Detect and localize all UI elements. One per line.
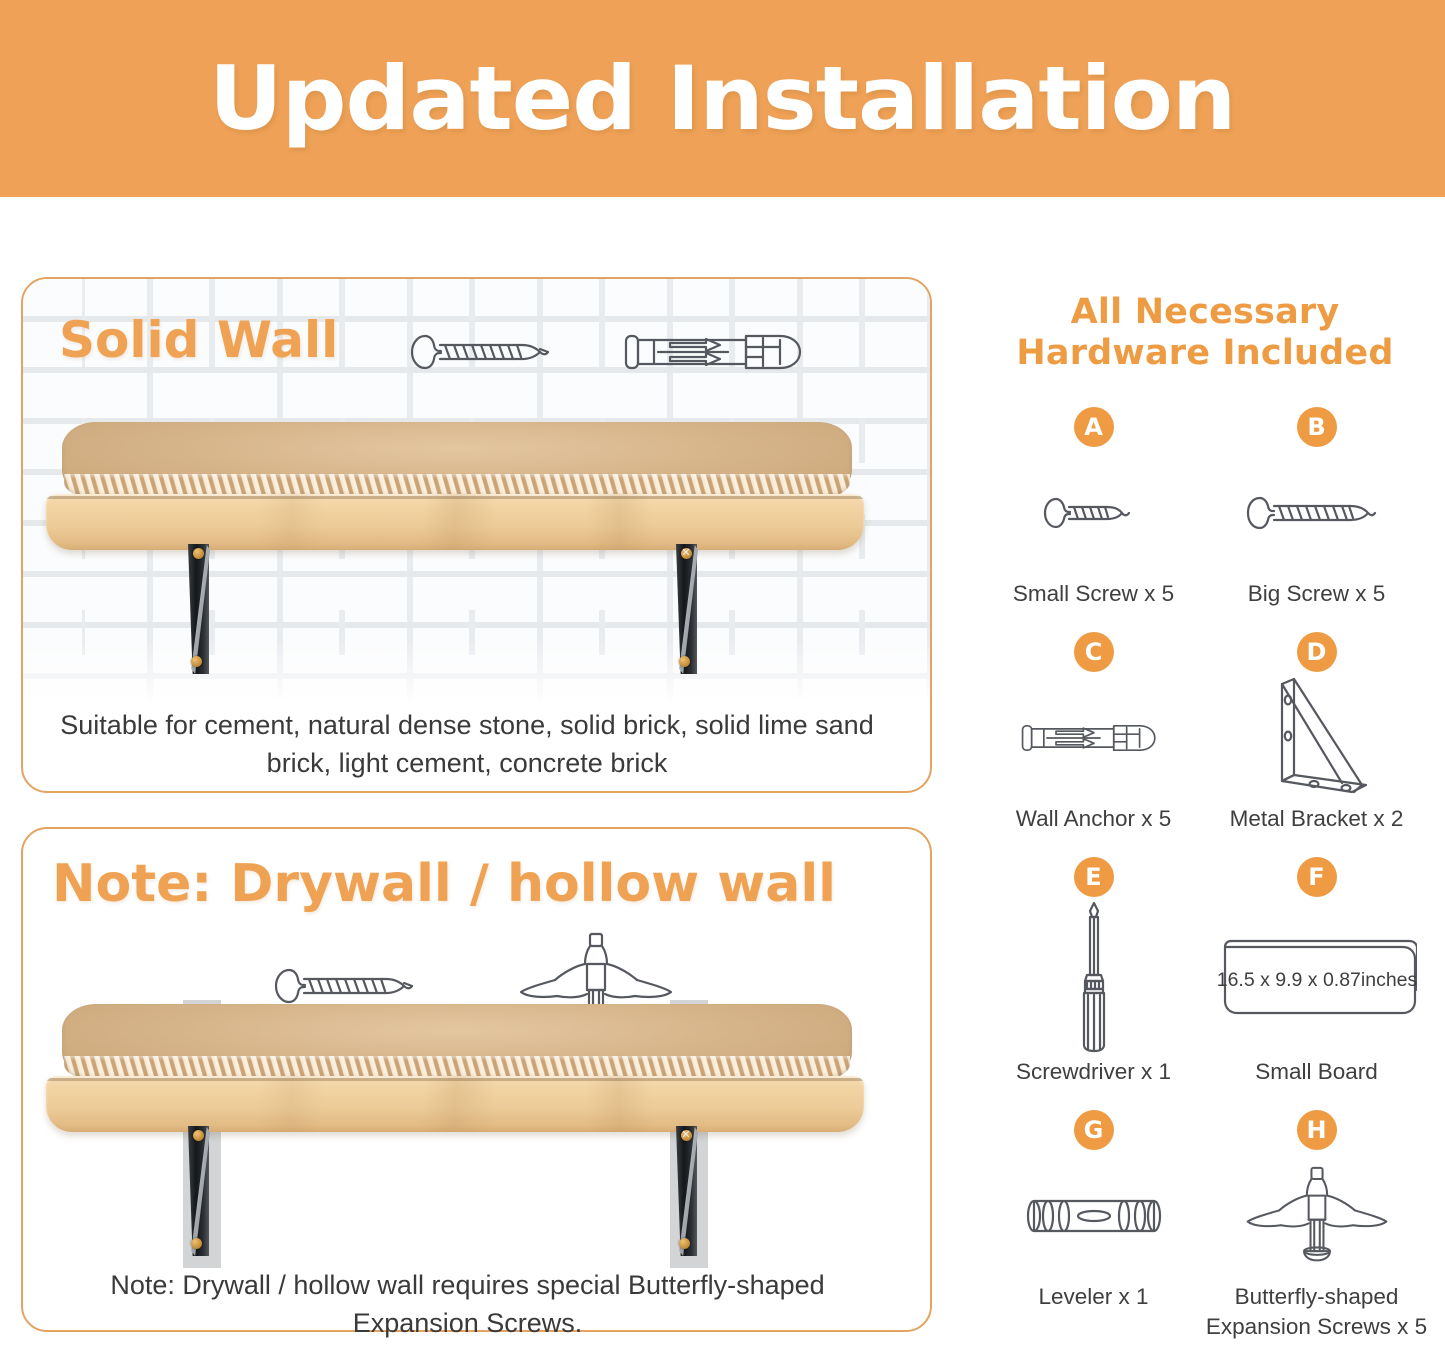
bracket-screw-bottom bbox=[679, 1238, 690, 1249]
hardware-label: Screwdriver x 1 bbox=[1016, 1057, 1171, 1086]
hardware-item-metal-bracket: D Metal Bracket x 2 bbox=[1205, 632, 1428, 833]
hardware-label: Butterfly-shaped Expansion Screws x 5 bbox=[1205, 1282, 1428, 1341]
hardware-item-wall-anchor: C Wall Anchor x 5 bbox=[982, 632, 1205, 833]
hardware-art bbox=[1038, 447, 1150, 579]
hardware-badge: E bbox=[1074, 857, 1114, 897]
wood-edge-shadow-line bbox=[46, 496, 864, 499]
hardware-label: Small Board bbox=[1255, 1057, 1378, 1086]
big-screw-icon bbox=[1241, 492, 1393, 534]
hardware-art bbox=[1243, 1150, 1391, 1282]
wall-anchor-icon bbox=[1018, 717, 1170, 759]
hardware-art bbox=[1258, 672, 1376, 804]
hardware-art: 16.5 x 9.9 x 0.87inches bbox=[1217, 897, 1417, 1057]
butterfly-expansion-screw-icon bbox=[1243, 1164, 1391, 1268]
panel-solid-wall-title: Solid Wall bbox=[59, 315, 338, 365]
leveler-icon bbox=[1024, 1191, 1164, 1241]
hardware-art bbox=[1241, 447, 1393, 579]
hardware-art bbox=[1072, 897, 1116, 1057]
hardware-label: Leveler x 1 bbox=[1038, 1282, 1148, 1311]
hardware-badge: G bbox=[1074, 1110, 1114, 1150]
hardware-item-leveler: G Leveler x 1 bbox=[982, 1110, 1205, 1341]
board-dimension-text: 16.5 x 9.9 x 0.87inches bbox=[1217, 969, 1417, 991]
hardware-item-butterfly-expansion-screws: H bbox=[1205, 1110, 1428, 1341]
hardware-art bbox=[1018, 672, 1170, 804]
hardware-heading-line2: Hardware Included bbox=[982, 333, 1428, 374]
hardware-heading-line1: All Necessary bbox=[982, 292, 1428, 333]
small-screw-icon bbox=[1038, 493, 1150, 533]
shelf-wood-edge bbox=[46, 494, 864, 550]
panel-solid-wall-icons bbox=[404, 327, 820, 377]
bracket-screw-top bbox=[193, 548, 204, 559]
metal-bracket-icon bbox=[1258, 674, 1376, 802]
wall-anchor-icon bbox=[620, 327, 820, 377]
panel-solid-wall-caption: Suitable for cement, natural dense stone… bbox=[52, 706, 882, 783]
hardware-heading: All Necessary Hardware Included bbox=[982, 292, 1428, 375]
shelf-photo-drywall: ✕ bbox=[40, 1000, 880, 1272]
hardware-badge: D bbox=[1297, 632, 1337, 672]
panel-drywall-caption: Note: Drywall / hollow wall requires spe… bbox=[80, 1266, 855, 1343]
hardware-art bbox=[1024, 1150, 1164, 1282]
hardware-badge: A bbox=[1074, 407, 1114, 447]
screwdriver-icon bbox=[1072, 899, 1116, 1055]
wood-edge-shadow-line bbox=[46, 1078, 864, 1081]
shelf-wood-edge bbox=[46, 1076, 864, 1132]
panel-drywall-title: Note: Drywall / hollow wall bbox=[52, 858, 836, 910]
hardware-label: Wall Anchor x 5 bbox=[1016, 804, 1171, 833]
hardware-badge: C bbox=[1074, 632, 1114, 672]
screw-icon bbox=[404, 328, 574, 376]
small-board-icon: 16.5 x 9.9 x 0.87inches bbox=[1217, 931, 1417, 1023]
hardware-item-small-screw: A Small Screw x 5 bbox=[982, 407, 1205, 608]
page-title: Updated Installation bbox=[209, 55, 1235, 143]
bracket-screw-cross-mark: ✕ bbox=[680, 1129, 692, 1141]
bracket-screw-cross-mark: ✕ bbox=[680, 547, 692, 559]
hardware-item-big-screw: B Big Screw x 5 bbox=[1205, 407, 1428, 608]
hardware-label: Big Screw x 5 bbox=[1248, 579, 1386, 608]
wood-grain-texture bbox=[46, 494, 864, 550]
header-banner: Updated Installation bbox=[0, 0, 1445, 197]
hardware-item-small-board: F 16.5 x 9.9 x 0.87inches Small Board bbox=[1205, 857, 1428, 1086]
bracket-screw-bottom bbox=[191, 1238, 202, 1249]
hardware-grid: A Small Screw x 5 B bbox=[982, 407, 1428, 1341]
wood-grain-texture bbox=[46, 1076, 864, 1132]
hardware-item-screwdriver: E Screwdriver x 1 bbox=[982, 857, 1205, 1086]
hardware-label: Small Screw x 5 bbox=[1013, 579, 1174, 608]
hardware-list: All Necessary Hardware Included A Small … bbox=[982, 292, 1428, 1341]
bracket-screw-bottom bbox=[191, 656, 202, 667]
hardware-label: Metal Bracket x 2 bbox=[1230, 804, 1404, 833]
bracket-screw-top bbox=[193, 1130, 204, 1141]
hardware-badge: H bbox=[1297, 1110, 1337, 1150]
hardware-badge: B bbox=[1297, 407, 1337, 447]
hardware-badge: F bbox=[1297, 857, 1337, 897]
shelf-photo-solid-wall: ✕ bbox=[40, 418, 880, 683]
bracket-screw-bottom bbox=[679, 656, 690, 667]
